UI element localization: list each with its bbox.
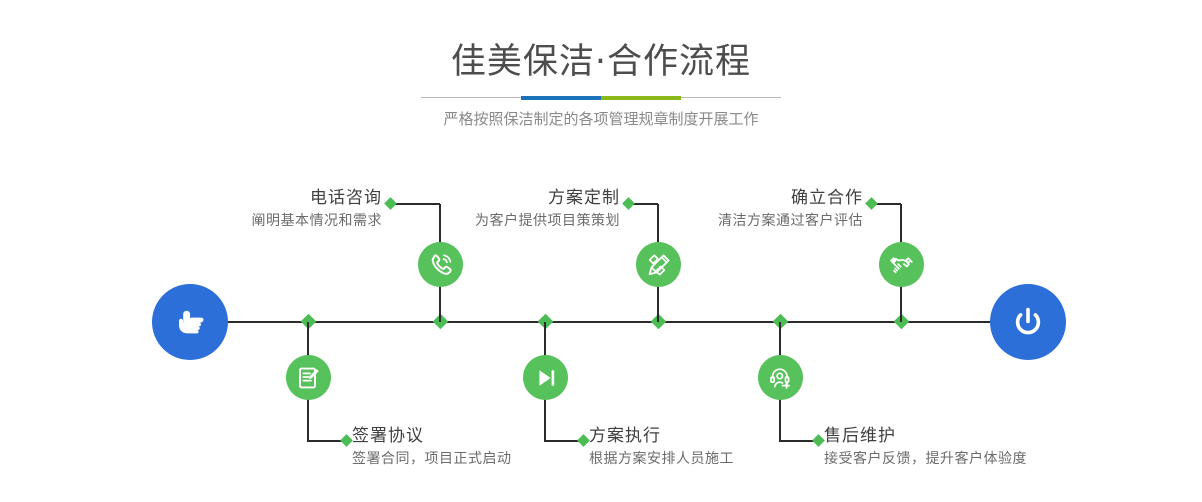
step-title-3: 方案定制 — [390, 186, 620, 210]
power-icon — [1008, 302, 1048, 342]
connector-diamond-5 — [865, 197, 878, 210]
connector-diamond-6 — [812, 434, 825, 447]
step-node-5[interactable] — [879, 242, 924, 287]
step-desc-3: 为客户提供项目策策划 — [390, 210, 620, 232]
headset-plus-icon — [768, 365, 794, 391]
process-timeline: 电话咨询 阐明基本情况和需求 签署协议 签署合同，项目正式启动 — [0, 0, 1202, 502]
step-title-2: 签署协议 — [352, 424, 512, 448]
step-title-6: 售后维护 — [824, 424, 1027, 448]
connector-diamond-2 — [340, 434, 353, 447]
handshake-icon — [889, 252, 915, 278]
step-desc-5: 清洁方案通过客户评估 — [633, 210, 863, 232]
pointing-hand-icon — [170, 302, 210, 342]
pencil-ruler-icon — [646, 252, 672, 278]
play-next-icon — [533, 365, 559, 391]
step-node-6[interactable] — [758, 355, 803, 400]
step-node-4[interactable] — [523, 355, 568, 400]
connector-diamond-4 — [577, 434, 590, 447]
step-title-5: 确立合作 — [633, 186, 863, 210]
step-node-3[interactable] — [636, 242, 681, 287]
phone-call-icon — [428, 252, 454, 278]
step-label-6: 售后维护 接受客户反馈，提升客户体验度 — [824, 424, 1027, 470]
step-desc-6: 接受客户反馈，提升客户体验度 — [824, 448, 1027, 470]
step-desc-4: 根据方案安排人员施工 — [589, 448, 734, 470]
step-label-5: 确立合作 清洁方案通过客户评估 — [633, 186, 863, 232]
step-label-3: 方案定制 为客户提供项目策策划 — [390, 186, 620, 232]
step-title-4: 方案执行 — [589, 424, 734, 448]
step-node-1[interactable] — [418, 242, 463, 287]
step-label-4: 方案执行 根据方案安排人员施工 — [589, 424, 734, 470]
step-node-2[interactable] — [286, 355, 331, 400]
step-label-2: 签署协议 签署合同，项目正式启动 — [352, 424, 512, 470]
step-desc-1: 阐明基本情况和需求 — [150, 210, 382, 232]
cooperation-process-infographic: 佳美保洁·合作流程 严格按照保洁制定的各项管理规章制度开展工作 — [0, 0, 1202, 502]
timeline-start-node — [152, 284, 228, 360]
document-sign-icon — [296, 365, 322, 391]
step-label-1: 电话咨询 阐明基本情况和需求 — [150, 186, 382, 232]
timeline-end-node — [990, 284, 1066, 360]
step-title-1: 电话咨询 — [150, 186, 382, 210]
step-desc-2: 签署合同，项目正式启动 — [352, 448, 512, 470]
